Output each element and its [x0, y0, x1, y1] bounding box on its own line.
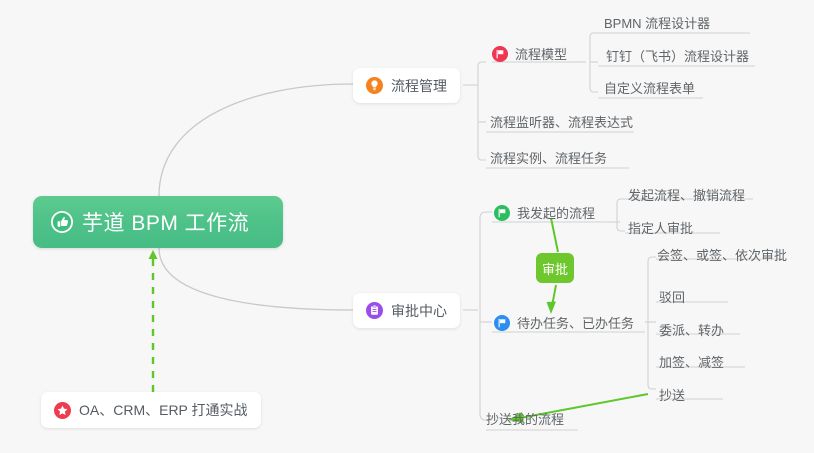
node-label-dingtalk-feishu-designer: 钉钉（飞书）流程设计器	[606, 50, 749, 63]
lightbulb-icon	[366, 77, 383, 94]
connector-pm-model-spine	[590, 33, 598, 92]
connector-init-spine	[617, 199, 625, 231]
node-reject[interactable]: 驳回	[659, 291, 685, 304]
node-label-cc-to-me-process: 抄送我的流程	[486, 413, 564, 426]
node-dingtalk-feishu-designer[interactable]: 钉钉（飞书）流程设计器	[606, 50, 749, 63]
node-cc-to-me-process[interactable]: 抄送我的流程	[486, 413, 564, 426]
node-process-listener-expression[interactable]: 流程监听器、流程表达式	[490, 116, 633, 129]
branch-label-approval-center: 审批中心	[391, 301, 447, 321]
node-label-process-listener-expression: 流程监听器、流程表达式	[490, 116, 633, 129]
node-start-cancel-process[interactable]: 发起流程、撤销流程	[628, 189, 745, 202]
connector-root-to-process-management	[159, 84, 353, 196]
node-label-delegate-transfer: 委派、转办	[659, 324, 724, 337]
star-icon	[54, 402, 71, 419]
footer-card-oa-crm-erp[interactable]: OA、CRM、ERP 打通实战	[41, 392, 261, 428]
root-node[interactable]: 芋道 BPM 工作流	[33, 196, 283, 248]
node-label-assignee-approval: 指定人审批	[628, 222, 693, 235]
node-label-start-cancel-process: 发起流程、撤销流程	[628, 189, 745, 202]
node-countersign-orsign-sequential[interactable]: 会签、或签、依次审批	[657, 249, 787, 262]
branch-card-process-management[interactable]: 流程管理	[353, 68, 460, 103]
node-label-countersign-orsign-sequential: 会签、或签、依次审批	[657, 249, 787, 262]
node-custom-process-form[interactable]: 自定义流程表单	[604, 82, 695, 95]
node-label-reject: 驳回	[659, 291, 685, 304]
connector-root-to-approval-center	[159, 248, 353, 310]
branch-label-process-management: 流程管理	[391, 76, 447, 96]
node-add-remove-sign[interactable]: 加签、减签	[659, 356, 724, 369]
node-label-todo-done-tasks: 待办任务、已办任务	[517, 317, 634, 330]
node-todo-done-tasks[interactable]: 待办任务、已办任务	[494, 315, 634, 331]
footer-card-label: OA、CRM、ERP 打通实战	[79, 400, 248, 420]
node-label-cc: 抄送	[659, 389, 685, 402]
node-bpmn-designer[interactable]: BPMN 流程设计器	[604, 17, 710, 30]
node-delegate-transfer[interactable]: 委派、转办	[659, 324, 724, 337]
flag-icon	[492, 46, 508, 62]
node-process-instance-task[interactable]: 流程实例、流程任务	[490, 152, 607, 165]
node-assignee-approval[interactable]: 指定人审批	[628, 222, 693, 235]
connector-ac-spine	[480, 212, 492, 420]
annotation-arrow-footer-to-root	[149, 250, 158, 392]
clipboard-icon	[366, 302, 383, 319]
node-cc[interactable]: 抄送	[659, 389, 685, 402]
node-process-model[interactable]: 流程模型	[492, 46, 567, 62]
connector-pm-spine	[478, 62, 486, 160]
node-label-process-model: 流程模型	[515, 48, 567, 61]
mindmap-canvas: 芋道 BPM 工作流 流程管理 审批中心	[0, 0, 814, 453]
flag-icon	[494, 315, 510, 331]
connector-todo-spine	[648, 257, 656, 389]
approval-chip[interactable]: 审批	[536, 253, 574, 283]
flag-icon	[494, 205, 510, 221]
approval-chip-label: 审批	[542, 259, 568, 278]
node-label-process-instance-task: 流程实例、流程任务	[490, 152, 607, 165]
node-my-initiated-process[interactable]: 我发起的流程	[494, 205, 595, 221]
thumbs-up-icon	[51, 211, 73, 233]
node-label-custom-process-form: 自定义流程表单	[604, 82, 695, 95]
node-label-my-initiated-process: 我发起的流程	[517, 207, 595, 220]
node-label-add-remove-sign: 加签、减签	[659, 356, 724, 369]
node-label-bpmn-designer: BPMN 流程设计器	[604, 17, 710, 30]
branch-card-approval-center[interactable]: 审批中心	[353, 293, 460, 328]
root-label: 芋道 BPM 工作流	[82, 207, 249, 237]
